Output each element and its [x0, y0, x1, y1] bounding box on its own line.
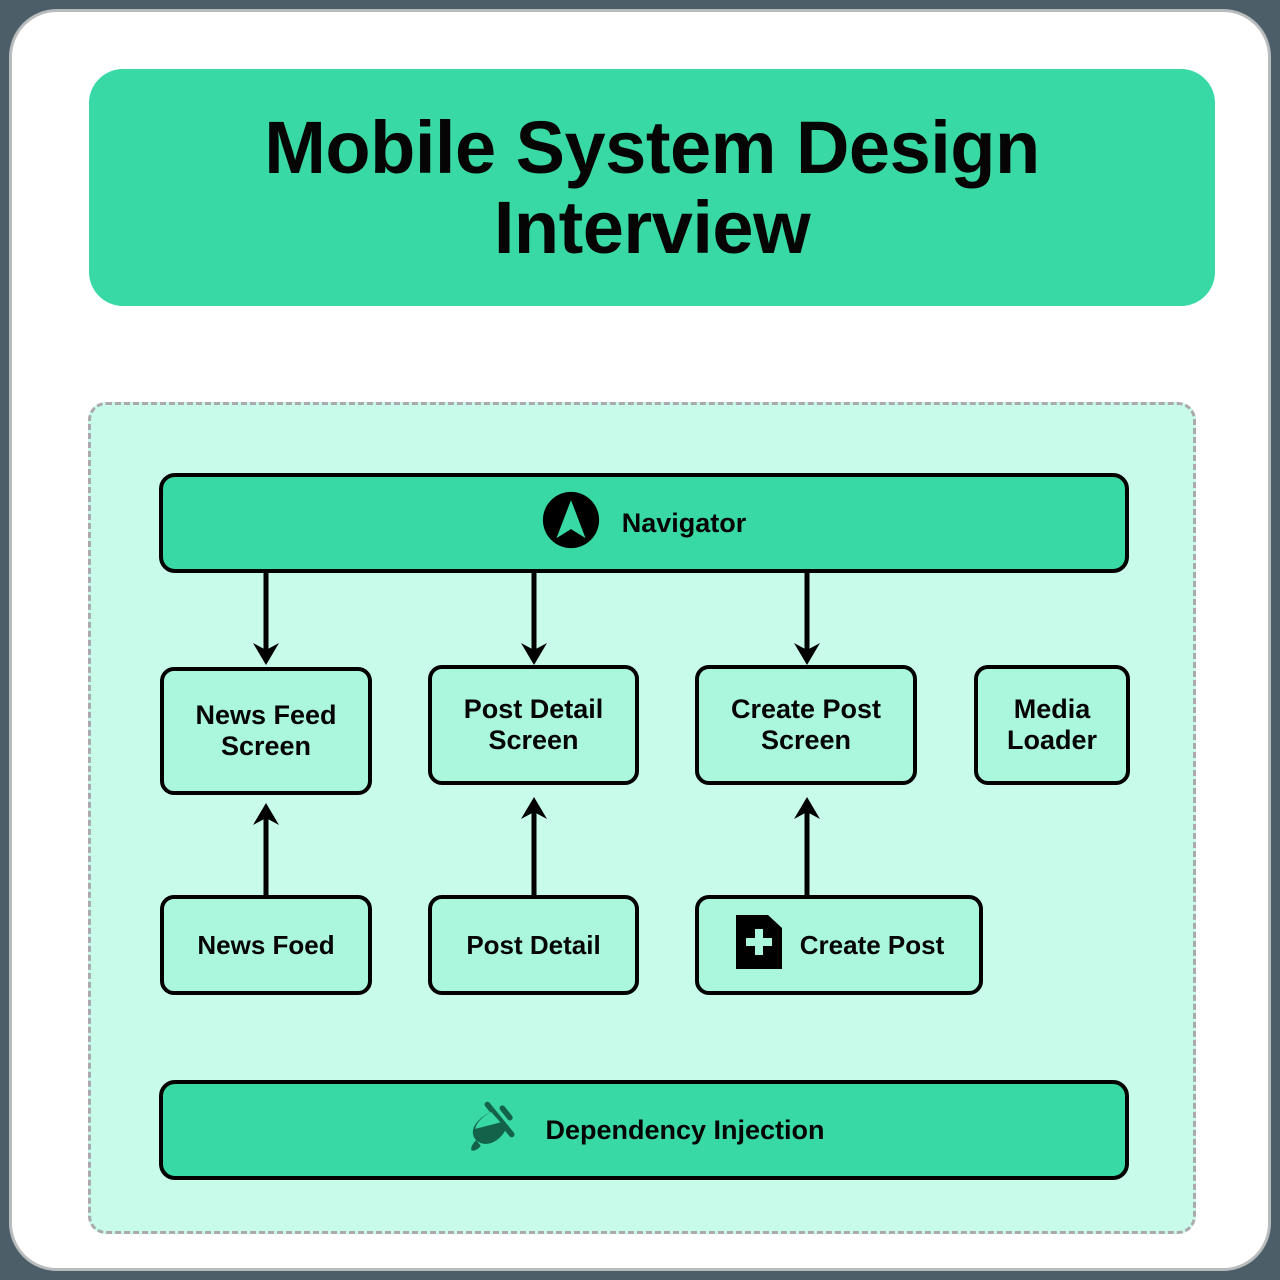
- screenshot-root: Mobile System Design Interview Navigator: [0, 0, 1280, 1280]
- news-feed-label: News Foed: [197, 930, 334, 961]
- navigation-arrow-icon: [542, 491, 600, 556]
- arrow-navigator-to-post-detail-screen: [514, 573, 554, 667]
- news-feed-screen-label: News Feed Screen: [195, 700, 336, 762]
- navigator-bar[interactable]: Navigator: [159, 473, 1129, 573]
- arrow-news-feed-to-news-feed-screen: [246, 801, 286, 895]
- white-card: Mobile System Design Interview Navigator: [9, 9, 1271, 1271]
- node-news-feed[interactable]: News Foed: [160, 895, 372, 995]
- node-post-detail[interactable]: Post Detail: [428, 895, 639, 995]
- post-detail-label: Post Detail: [466, 930, 600, 961]
- node-post-detail-screen[interactable]: Post Detail Screen: [428, 665, 639, 785]
- navigator-label: Navigator: [622, 508, 747, 539]
- dependency-injection-label: Dependency Injection: [545, 1115, 824, 1146]
- node-news-feed-screen[interactable]: News Feed Screen: [160, 667, 372, 795]
- create-post-label: Create Post: [800, 930, 945, 961]
- node-create-post[interactable]: Create Post: [695, 895, 983, 995]
- arrow-post-detail-to-post-detail-screen: [514, 795, 554, 895]
- page-title: Mobile System Design Interview: [89, 108, 1215, 268]
- media-loader-label: Media Loader: [1007, 694, 1097, 756]
- page-title-bar: Mobile System Design Interview: [89, 69, 1215, 306]
- file-plus-icon: [734, 913, 784, 978]
- arrow-navigator-to-create-post-screen: [787, 573, 827, 667]
- create-post-screen-label: Create Post Screen: [731, 694, 881, 756]
- arrow-create-post-to-create-post-screen: [787, 795, 827, 895]
- architecture-diagram-container: Navigator News Feed Screen Post Det: [88, 402, 1196, 1234]
- dependency-injection-bar[interactable]: Dependency Injection: [159, 1080, 1129, 1180]
- node-media-loader[interactable]: Media Loader: [974, 665, 1130, 785]
- plug-icon: [463, 1097, 523, 1164]
- arrow-navigator-to-news-feed-screen: [246, 573, 286, 667]
- node-create-post-screen[interactable]: Create Post Screen: [695, 665, 917, 785]
- post-detail-screen-label: Post Detail Screen: [464, 694, 604, 756]
